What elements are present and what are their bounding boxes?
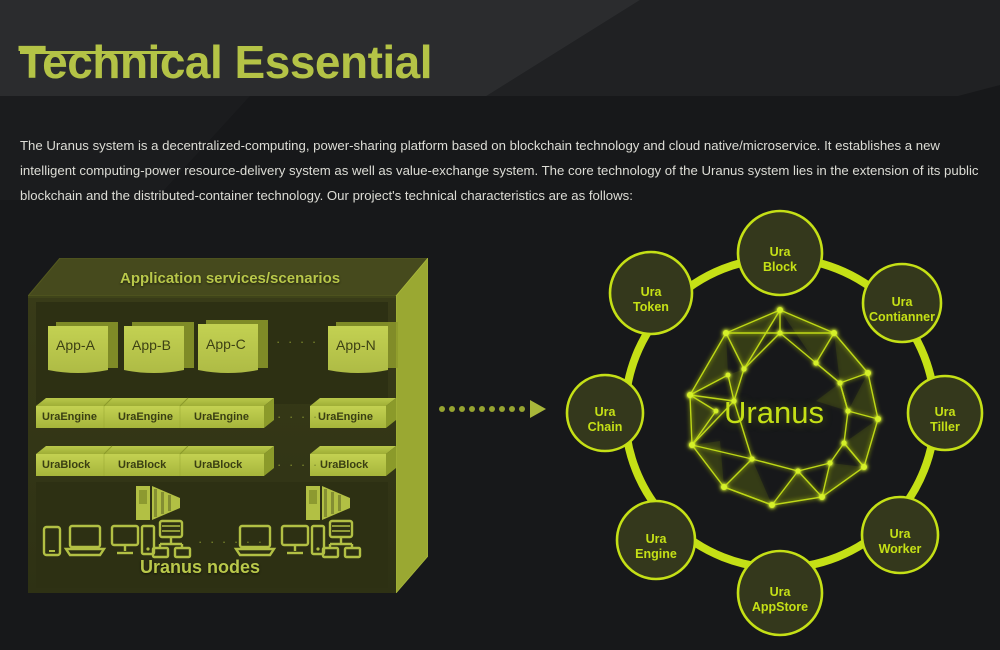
- block-slab-label: UraBlock: [118, 459, 166, 471]
- ring-center-label: Uranus: [548, 395, 1000, 431]
- app-row-ellipsis: · · · ·: [276, 334, 318, 349]
- page-title: Technical Essential: [18, 35, 432, 89]
- ring-node-ura-block: [738, 211, 822, 295]
- nodes-row-ellipsis: · · · · · ·: [198, 534, 264, 549]
- ring-node-ura-engine: [617, 501, 695, 579]
- block-row-ellipsis: · · · ·: [277, 457, 319, 472]
- ring-node-ura-appstore: [738, 551, 822, 635]
- app-card-label: App-N: [336, 337, 376, 353]
- ring-node-ura-worker: [862, 497, 938, 573]
- app-card-label: App-C: [206, 336, 246, 352]
- app-card-label: App-A: [56, 337, 95, 353]
- title-underline: [20, 51, 178, 54]
- box-right-face: [396, 258, 428, 593]
- stack-diagram-title: Application services/scenarios: [120, 270, 340, 287]
- ring-diagram: Uranus Ura Block Ura Contianner Ura Till…: [548, 205, 1000, 645]
- engine-slab-label: UraEngine: [118, 411, 173, 423]
- dotted-arrow-right-icon: [438, 398, 546, 420]
- ring-node-ura-contianner: [863, 264, 941, 342]
- stack-diagram-footer: Uranus nodes: [140, 557, 260, 578]
- box-header-divider: [28, 296, 396, 298]
- block-slab-label: UraBlock: [42, 459, 90, 471]
- engine-slab-label: UraEngine: [194, 411, 249, 423]
- engine-row-ellipsis: · · · ·: [277, 409, 319, 424]
- engine-slab-label: UraEngine: [318, 411, 373, 423]
- block-slab-label: UraBlock: [320, 459, 368, 471]
- ring-node-ura-token: [610, 252, 692, 334]
- engine-slab-label: UraEngine: [42, 411, 97, 423]
- stack-diagram: Application services/scenarios App-A App…: [28, 258, 428, 593]
- intro-paragraph: The Uranus system is a decentralized-com…: [20, 133, 982, 208]
- app-card-label: App-B: [132, 337, 171, 353]
- block-slab-label: UraBlock: [194, 459, 242, 471]
